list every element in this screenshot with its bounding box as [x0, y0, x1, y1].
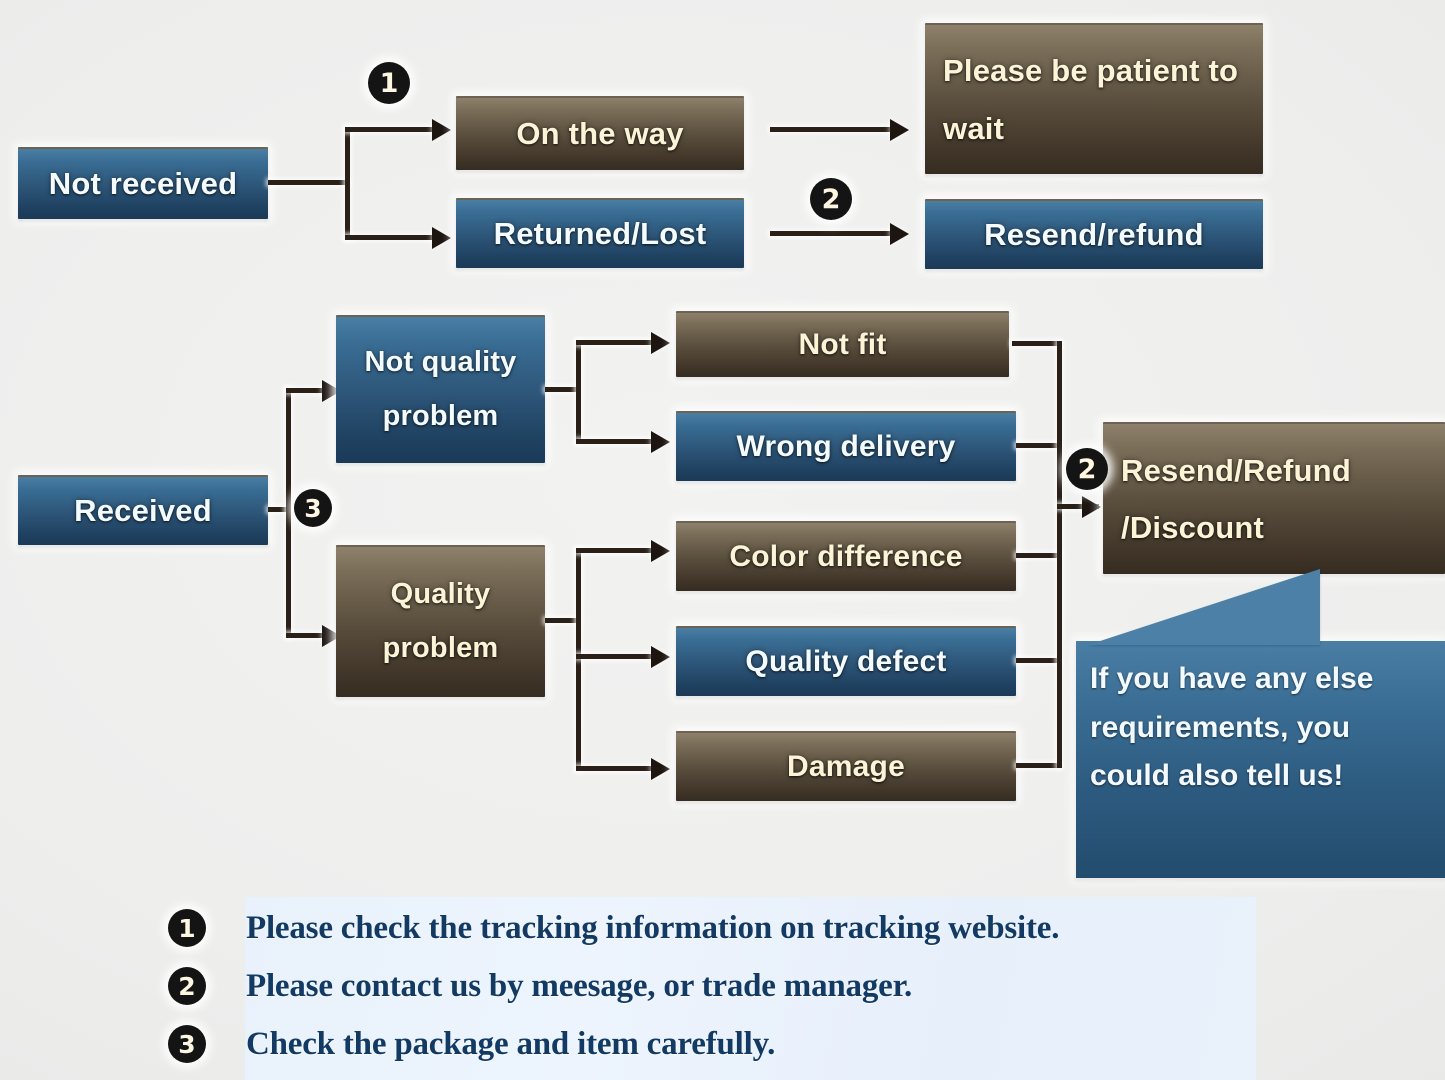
callout-line1: If you have any else — [1090, 662, 1373, 695]
node-quality-problem-line2: problem — [383, 632, 499, 664]
callout-line3: could also tell us! — [1090, 759, 1343, 792]
arrowhead-to-on-the-way — [432, 119, 451, 141]
arrowhead-to-resend-refund — [890, 223, 909, 245]
callout-text: If you have any else requirements, you c… — [1076, 641, 1445, 809]
outcome-line1: Resend/Refund — [1121, 453, 1351, 488]
legend-text-1: Please check the tracking information on… — [246, 910, 1059, 947]
arrowhead-to-wrong-delivery — [651, 431, 670, 453]
connector-to-damage — [576, 766, 654, 771]
marker-circle-3: 3 — [294, 489, 332, 527]
node-received-label: Received — [66, 489, 220, 533]
connector-quality-split — [576, 548, 581, 771]
connector-on-the-way-to-wait — [770, 127, 894, 132]
node-resend-refund-discount-label: Resend/Refund /Discount — [1103, 442, 1445, 557]
callout-tail-icon — [1088, 569, 1320, 645]
node-resend-refund-discount[interactable]: Resend/Refund /Discount — [1103, 422, 1445, 574]
node-not-received-label: Not received — [41, 162, 245, 206]
node-quality-defect-label: Quality defect — [737, 641, 954, 684]
node-quality-defect[interactable]: Quality defect — [676, 626, 1016, 696]
node-not-fit[interactable]: Not fit — [676, 311, 1009, 377]
connector-not-received-split — [345, 127, 350, 240]
callout-line2: requirements, you — [1090, 711, 1350, 744]
collector-stub-wrong-delivery — [1016, 443, 1060, 448]
connector-to-quality-defect — [576, 654, 654, 659]
node-damage[interactable]: Damage — [676, 731, 1016, 801]
legend-marker-1: 1 — [168, 909, 206, 947]
collector-stub-not-fit — [1012, 341, 1060, 346]
node-damage-label: Damage — [779, 746, 913, 789]
node-quality-problem-line1: Quality — [391, 578, 491, 610]
legend-text-3: Check the package and item carefully. — [246, 1026, 775, 1063]
node-not-quality-problem[interactable]: Not quality problem — [336, 315, 545, 463]
node-not-received[interactable]: Not received — [18, 147, 268, 219]
node-quality-problem[interactable]: Quality problem — [336, 545, 545, 697]
node-on-the-way[interactable]: On the way — [456, 96, 744, 170]
legend-marker-2: 2 — [168, 967, 206, 1005]
connector-to-returned-lost — [345, 235, 435, 240]
collector-stub-quality-defect — [1016, 658, 1060, 663]
connector-returned-to-resend — [770, 231, 894, 236]
arrowhead-to-quality-defect — [651, 646, 670, 668]
connector-not-received-stem — [268, 180, 348, 185]
connector-to-not-fit — [576, 340, 654, 345]
connector-to-on-the-way — [345, 127, 435, 132]
connector-notquality-split — [576, 340, 581, 444]
node-returned-lost[interactable]: Returned/Lost — [456, 198, 744, 268]
legend-marker-3: 3 — [168, 1025, 206, 1063]
connector-to-wrong-delivery — [576, 439, 654, 444]
node-please-be-patient-label: Please be patient to wait — [925, 42, 1263, 157]
arrowhead-to-color-difference — [651, 540, 670, 562]
connector-notquality-stem — [545, 387, 580, 392]
node-please-be-patient[interactable]: Please be patient to wait — [925, 23, 1263, 174]
node-not-quality-problem-line1: Not quality — [364, 346, 516, 378]
marker-circle-2-outcome: 2 — [1066, 448, 1108, 490]
connector-quality-stem — [545, 618, 580, 623]
collector-spine — [1057, 341, 1062, 768]
arrowhead-to-not-fit — [651, 332, 670, 354]
node-returned-lost-label: Returned/Lost — [486, 212, 715, 256]
connector-received-split — [286, 388, 291, 638]
flowchart-canvas: Not received 1 On the way Returned/Lost … — [0, 0, 1445, 1080]
node-color-difference[interactable]: Color difference — [676, 521, 1016, 591]
node-quality-problem-label: Quality problem — [375, 568, 507, 675]
callout-bubble: If you have any else requirements, you c… — [1076, 641, 1445, 878]
outcome-line2: /Discount — [1121, 510, 1264, 545]
arrowhead-to-be-patient — [890, 119, 909, 141]
legend-row-3: 3 Check the package and item carefully. — [168, 1018, 1268, 1070]
node-color-difference-label: Color difference — [721, 536, 970, 579]
marker-circle-1-top: 1 — [368, 62, 410, 104]
legend-text-2: Please contact us by meesage, or trade m… — [246, 968, 912, 1005]
collector-stub-color-difference — [1016, 553, 1060, 558]
node-wrong-delivery-label: Wrong delivery — [729, 426, 964, 469]
node-not-quality-problem-line2: problem — [383, 400, 499, 432]
arrowhead-to-returned-lost — [432, 227, 451, 249]
arrowhead-to-outcome — [1082, 496, 1101, 518]
node-not-fit-label: Not fit — [790, 324, 894, 367]
arrowhead-to-damage — [651, 758, 670, 780]
node-resend-refund[interactable]: Resend/refund — [925, 199, 1263, 269]
connector-to-not-quality — [286, 388, 326, 393]
legend-row-2: 2 Please contact us by meesage, or trade… — [168, 960, 1268, 1012]
node-wrong-delivery[interactable]: Wrong delivery — [676, 411, 1016, 481]
node-not-quality-problem-label: Not quality problem — [356, 336, 524, 443]
collector-stub-damage — [1016, 763, 1060, 768]
marker-circle-2-top: 2 — [810, 178, 852, 220]
node-on-the-way-label: On the way — [508, 112, 691, 156]
connector-to-quality — [286, 633, 326, 638]
connector-to-color-difference — [576, 548, 654, 553]
legend-row-1: 1 Please check the tracking information … — [168, 902, 1268, 954]
node-resend-refund-label: Resend/refund — [976, 213, 1212, 257]
node-received[interactable]: Received — [18, 475, 268, 545]
